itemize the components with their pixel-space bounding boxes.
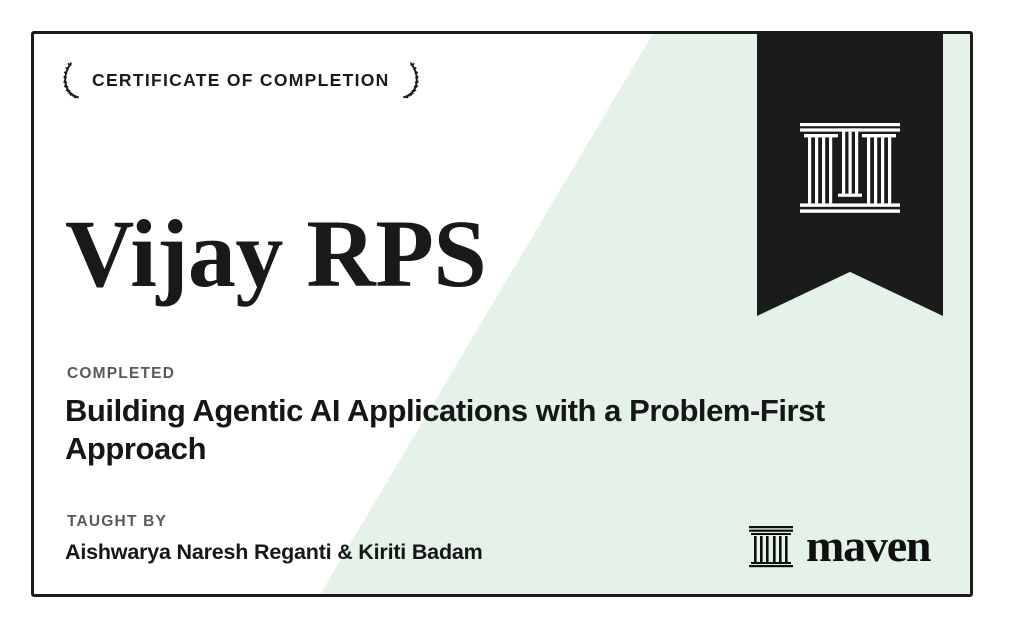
eyebrow-label: CERTIFICATE OF COMPLETION [92, 70, 390, 91]
certificate-eyebrow: CERTIFICATE OF COMPLETION [62, 60, 420, 100]
taught-by-label: TAUGHT BY [67, 513, 167, 531]
completed-label: COMPLETED [67, 365, 175, 383]
ribbon-badge [757, 31, 943, 316]
laurel-right-icon [398, 60, 420, 100]
monument-columns-icon [798, 119, 902, 219]
certificate-content: CERTIFICATE OF COMPLETION [34, 34, 970, 594]
certificate-root: CERTIFICATE OF COMPLETION [0, 0, 1024, 630]
course-title: Building Agentic AI Applications with a … [65, 392, 915, 467]
maven-columns-icon [748, 524, 794, 568]
maven-logo: maven [748, 523, 930, 569]
certificate-card: CERTIFICATE OF COMPLETION [31, 31, 973, 597]
laurel-left-icon [62, 60, 84, 100]
maven-wordmark: maven [806, 523, 930, 569]
recipient-name: Vijay RPS [65, 206, 486, 302]
instructors-names: Aishwarya Naresh Reganti & Kiriti Badam [65, 540, 483, 565]
